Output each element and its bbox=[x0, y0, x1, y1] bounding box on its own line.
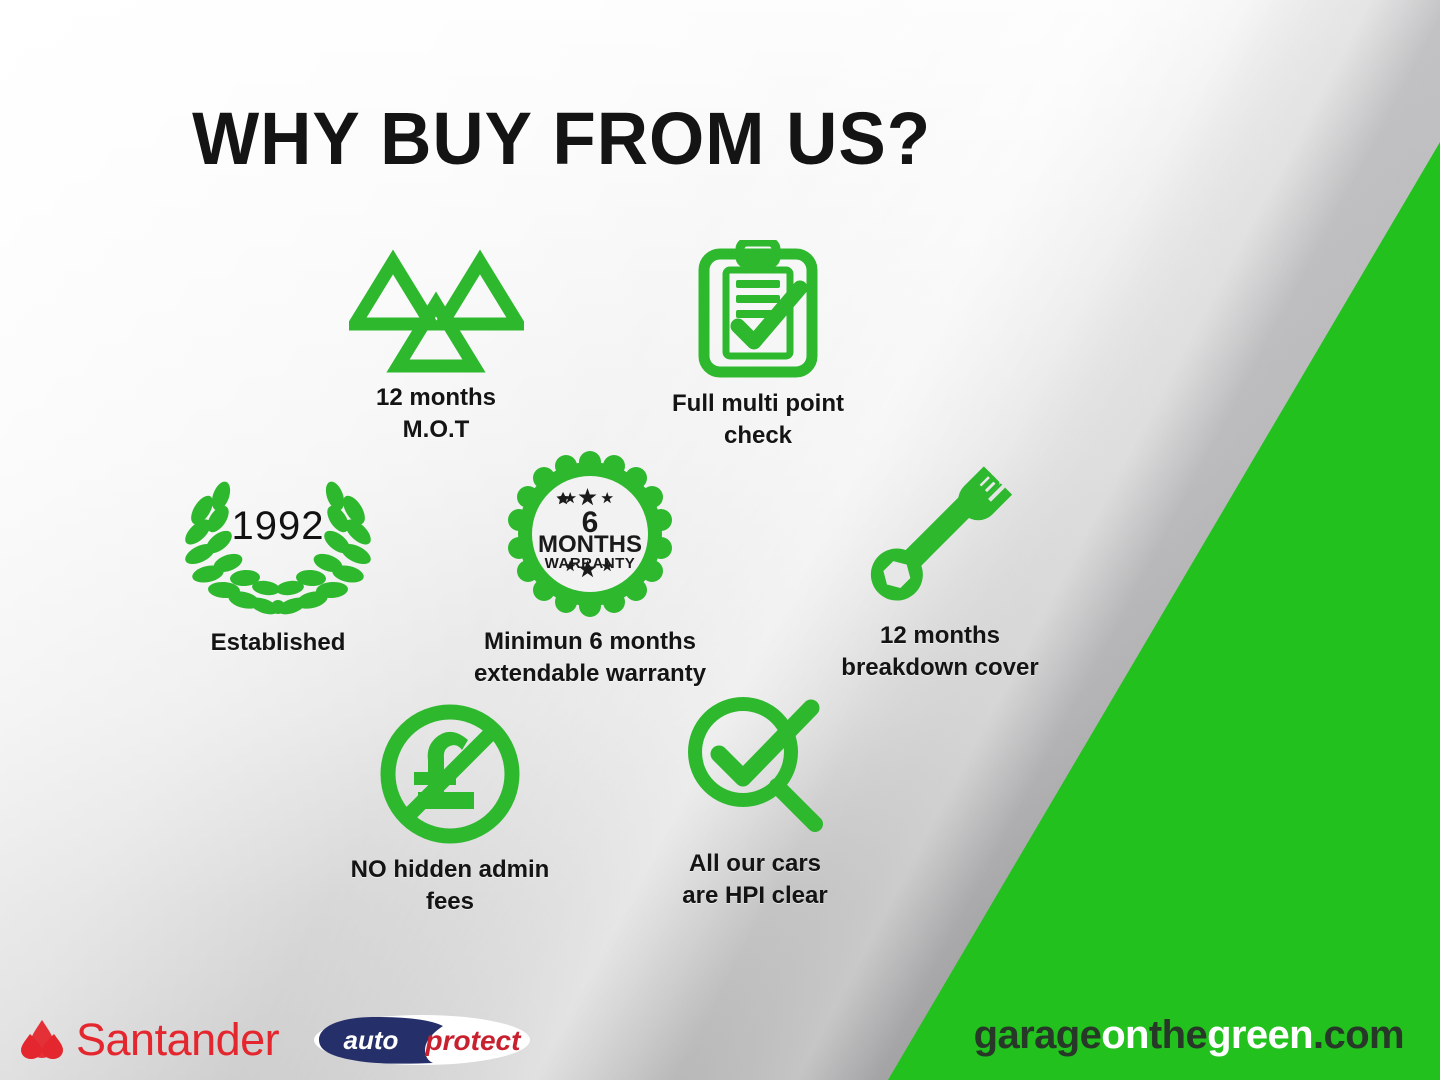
feature-hpi-caption: All our cars are HPI clear bbox=[605, 848, 905, 911]
feature-mot-caption: 12 months M.O.T bbox=[300, 382, 572, 445]
site-logo-part-on: on bbox=[1101, 1013, 1149, 1057]
site-logo-part-the: the bbox=[1149, 1013, 1207, 1057]
poster-canvas: WHY BUY FROM US? 12 months M.O.T bbox=[0, 0, 1440, 1080]
feature-breakdown-caption: 12 months breakdown cover bbox=[790, 620, 1090, 683]
warranty-badge-icon: 6 MONTHS WARRANTY bbox=[504, 448, 676, 620]
site-logo-part-com: .com bbox=[1313, 1013, 1404, 1057]
santander-flame-icon bbox=[16, 1016, 68, 1064]
badge-word: WARRANTY bbox=[545, 555, 636, 572]
feature-no-admin-fees: NO hidden admin fees bbox=[300, 700, 600, 917]
wrench-screwdriver-icon bbox=[856, 446, 1024, 614]
feature-breakdown-icon-wrap bbox=[790, 446, 1090, 614]
santander-logo: Santander bbox=[16, 1014, 279, 1066]
autoprotect-label-auto: auto bbox=[344, 1025, 399, 1055]
feature-breakdown-cover: 12 months breakdown cover bbox=[790, 446, 1090, 683]
feature-check-caption: Full multi point check bbox=[598, 388, 918, 451]
page-title: WHY BUY FROM US? bbox=[29, 96, 1411, 181]
magnifier-check-icon bbox=[679, 690, 831, 842]
footer-partner-logos: Santander auto protect bbox=[16, 1014, 531, 1066]
mot-triangles-icon bbox=[349, 248, 524, 376]
feature-established-caption: Established bbox=[148, 627, 408, 659]
site-logo[interactable]: garageonthegreen.com bbox=[974, 1013, 1404, 1058]
feature-established: 1992 Established bbox=[148, 466, 408, 659]
feature-mot-icon-wrap bbox=[300, 248, 572, 376]
feature-admin-caption: NO hidden admin fees bbox=[300, 854, 600, 917]
feature-established-icon-wrap: 1992 bbox=[148, 466, 408, 621]
feature-mot: 12 months M.O.T bbox=[300, 248, 572, 445]
feature-hpi-clear: All our cars are HPI clear bbox=[605, 690, 905, 911]
autoprotect-label-protect: protect bbox=[425, 1025, 523, 1056]
feature-check-icon-wrap bbox=[598, 240, 918, 382]
site-logo-part-garage: garage bbox=[974, 1013, 1102, 1057]
feature-multi-point-check: Full multi point check bbox=[598, 240, 918, 451]
wreath-holder: 1992 bbox=[174, 466, 382, 621]
feature-admin-icon-wrap bbox=[300, 700, 600, 848]
established-year: 1992 bbox=[174, 504, 382, 549]
autoprotect-ellipse-icon: auto protect bbox=[313, 1014, 531, 1066]
no-pound-fee-icon bbox=[376, 700, 524, 848]
santander-wordmark: Santander bbox=[76, 1014, 279, 1066]
feature-warranty-caption: Minimun 6 months extendable warranty bbox=[435, 626, 745, 689]
site-logo-part-green: green bbox=[1207, 1013, 1313, 1057]
badge-unit: MONTHS bbox=[538, 531, 642, 558]
feature-hpi-icon-wrap bbox=[605, 690, 905, 842]
autoprotect-logo: auto protect bbox=[313, 1014, 531, 1066]
feature-warranty: 6 MONTHS WARRANTY Minimun 6 months exten… bbox=[435, 448, 745, 689]
clipboard-check-icon bbox=[688, 240, 828, 382]
feature-warranty-icon-wrap: 6 MONTHS WARRANTY bbox=[435, 448, 745, 620]
